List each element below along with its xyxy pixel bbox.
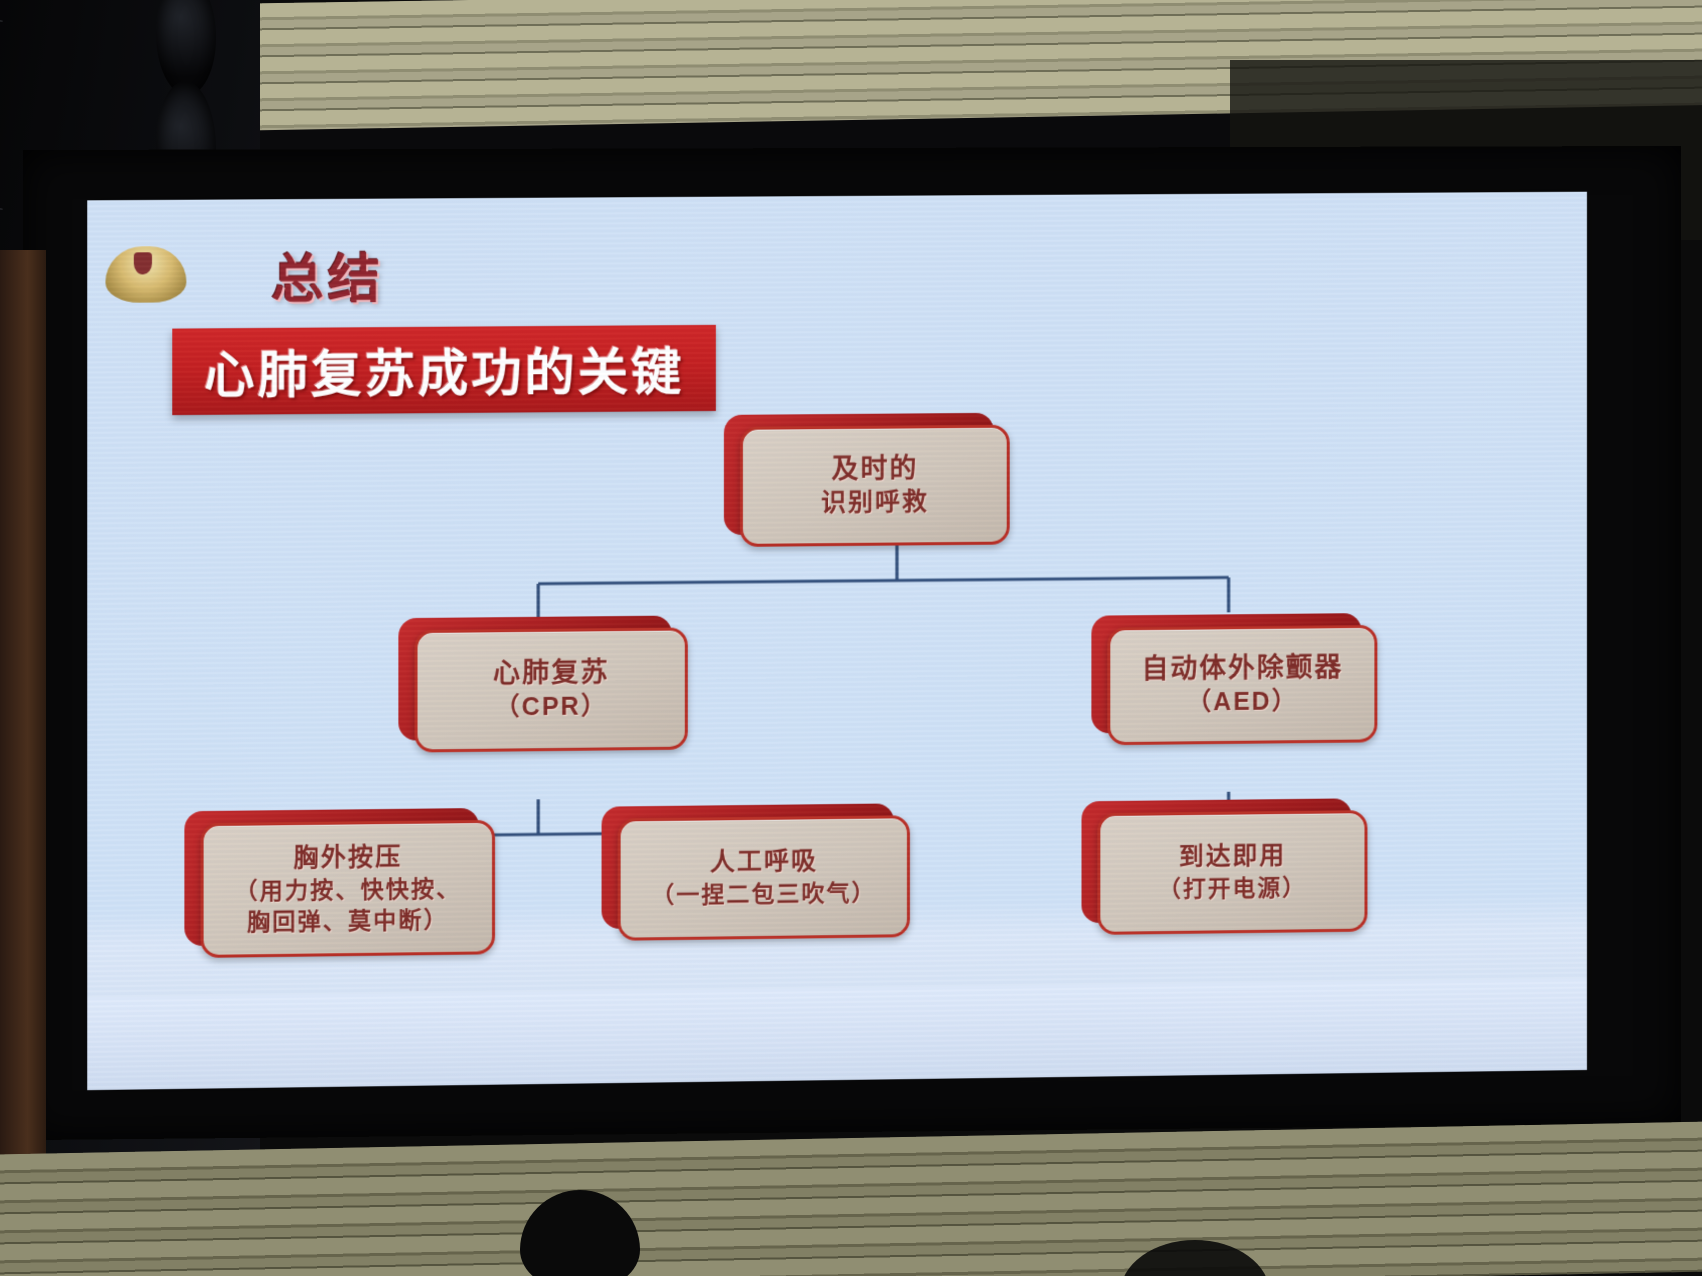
node-face: 胸外按压 （用力按、快快按、 胸回弹、莫中断） — [201, 820, 495, 958]
speaker-brand-label: JBL — [0, 11, 4, 25]
node-line-1: 到达即用 — [1179, 840, 1286, 874]
node-line-1: 及时的 — [832, 451, 919, 487]
room-photo-scene: JBL JBL JBL 总结 心肺复苏成功的关键 — [0, 0, 1702, 1276]
node-line-3: 胸回弹、莫中断） — [247, 904, 449, 937]
node-line-1: 人工呼吸 — [710, 846, 818, 880]
node-line-1: 胸外按压 — [293, 841, 402, 875]
node-line-2: （打开电源） — [1158, 873, 1307, 905]
node-line-2: （AED） — [1186, 686, 1298, 720]
node-line-2: （用力按、快快按、 — [234, 874, 461, 907]
node-line-2: （一捏二包三吹气） — [651, 878, 876, 911]
node-chest-compression[interactable]: 胸外按压 （用力按、快快按、 胸回弹、莫中断） — [184, 808, 479, 946]
node-face: 到达即用 （打开电源） — [1097, 810, 1367, 935]
node-line-2: （CPR） — [495, 691, 608, 725]
node-line-1: 心肺复苏 — [493, 655, 610, 692]
node-timely-recognition[interactable]: 及时的 识别呼救 — [724, 413, 994, 535]
node-face: 自动体外除颤器 （AED） — [1107, 625, 1377, 745]
node-line-1: 自动体外除颤器 — [1142, 650, 1344, 687]
speaker-brand-label: JBL — [0, 199, 4, 213]
node-face: 及时的 识别呼救 — [740, 425, 1010, 547]
node-use-on-arrival[interactable]: 到达即用 （打开电源） — [1081, 798, 1351, 923]
presentation-slide: 总结 心肺复苏成功的关键 — [87, 192, 1587, 1090]
node-cpr[interactable]: 心肺复苏 （CPR） — [398, 616, 671, 741]
node-aed[interactable]: 自动体外除颤器 （AED） — [1091, 613, 1361, 733]
node-rescue-breathing[interactable]: 人工呼吸 （一捏二包三吹气） — [602, 803, 894, 928]
node-face: 人工呼吸 （一捏二包三吹气） — [618, 815, 910, 941]
node-line-2: 识别呼救 — [821, 487, 929, 521]
wall-pillar — [0, 250, 46, 1276]
node-face: 心肺复苏 （CPR） — [415, 627, 688, 752]
